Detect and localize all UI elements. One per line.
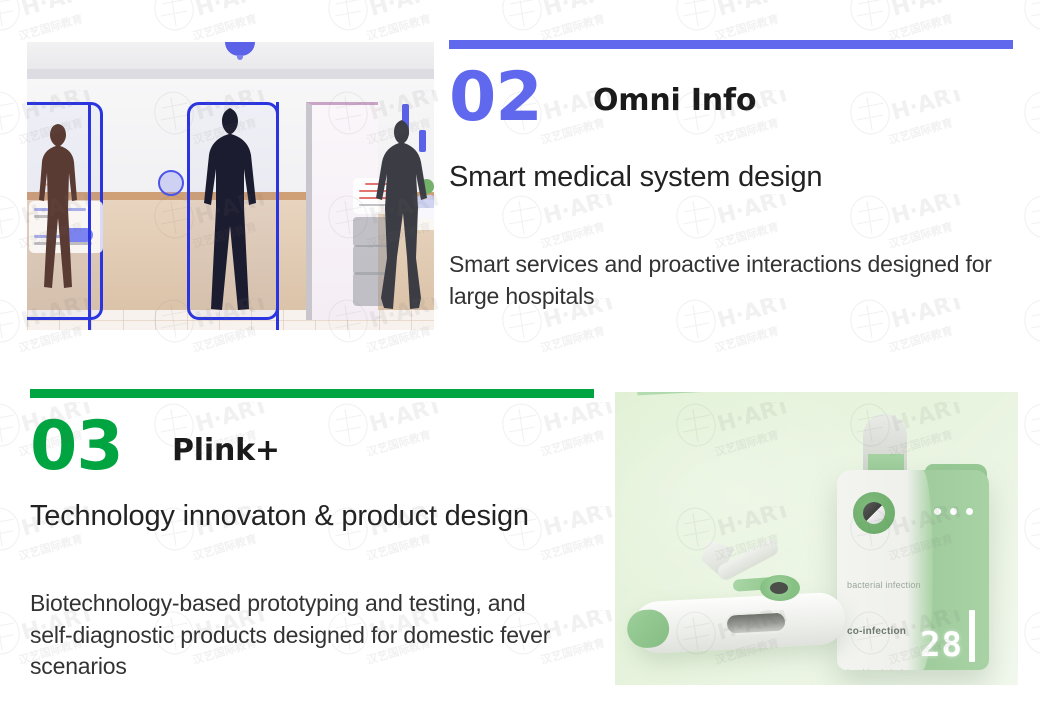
svg-text:H·ART: H·ART	[541, 402, 620, 438]
svg-text:汉艺国际教育: 汉艺国际教育	[365, 531, 432, 563]
device-sample-port-inner	[863, 502, 885, 524]
svg-text:H·ART: H·ART	[715, 194, 794, 230]
section-02-description: Smart services and proactive interaction…	[449, 249, 1019, 312]
watermark-hart: H·ART汉艺国际教育	[1020, 90, 1040, 160]
device-flat-port-inner	[770, 582, 788, 594]
person-silhouette-right	[374, 118, 428, 314]
svg-text:H·ART: H·ART	[715, 0, 794, 22]
person-silhouette-left	[35, 122, 83, 314]
svg-text:汉艺国际教育: 汉艺国际教育	[887, 323, 954, 355]
watermark-hart: H·ART汉艺国际教育	[1020, 194, 1040, 264]
product-scene: bacterial infection co-infection healthy…	[615, 392, 1018, 685]
svg-text:H·ART: H·ART	[367, 0, 446, 22]
device-indicator-dots	[934, 508, 973, 515]
slide-root: 02 Omni Info Smart medical system design…	[0, 0, 1040, 707]
svg-text:汉艺国际教育: 汉艺国际教育	[539, 531, 606, 563]
hospital-scene	[27, 42, 434, 330]
device-flat-body	[632, 591, 846, 654]
svg-text:H·ART: H·ART	[889, 194, 968, 230]
svg-text:汉艺国际教育: 汉艺国际教育	[191, 11, 258, 43]
svg-text:汉艺国际教育: 汉艺国际教育	[539, 323, 606, 355]
device-label-healthy-viral: healthy / viral infection	[847, 668, 933, 670]
svg-text:H·ART: H·ART	[193, 0, 272, 22]
watermark-hart: H·ART汉艺国际教育	[1020, 298, 1040, 368]
svg-text:H·ART: H·ART	[889, 0, 968, 22]
device-flat-cap	[626, 609, 670, 649]
svg-text:H·ART: H·ART	[889, 90, 968, 126]
person-silhouette-center	[202, 106, 264, 314]
indicator-dot	[950, 508, 957, 515]
screen-edge-guide	[88, 102, 91, 330]
watermark-hart: H·ART汉艺国际教育	[1020, 610, 1040, 680]
svg-text:汉艺国际教育: 汉艺国际教育	[365, 427, 432, 459]
section-02-accent-bar	[449, 40, 1013, 49]
device-display-value: 28	[920, 628, 963, 662]
device-upright-body: bacterial infection co-infection healthy…	[837, 470, 989, 670]
watermark-hart: H·ART汉艺国际教育	[1020, 506, 1040, 576]
plink-device-render-image: bacterial infection co-infection healthy…	[615, 392, 1018, 685]
svg-text:汉艺国际教育: 汉艺国际教育	[17, 531, 84, 563]
svg-text:汉艺国际教育: 汉艺国际教育	[713, 115, 780, 147]
svg-text:汉艺国际教育: 汉艺国际教育	[713, 219, 780, 251]
watermark-hart: H·ART汉艺国际教育	[1020, 0, 1040, 56]
section-03-accent-bar	[30, 389, 594, 398]
screen-edge-guide	[276, 102, 279, 330]
ceiling-band	[27, 69, 434, 79]
section-02-project-name: Omni Info	[593, 83, 756, 118]
svg-text:汉艺国际教育: 汉艺国际教育	[539, 427, 606, 459]
watermark-hart: H·ART汉艺国际教育	[498, 402, 628, 472]
device-display: 28	[920, 610, 975, 662]
section-02-number: 02	[449, 64, 542, 132]
svg-text:汉艺国际教育: 汉艺国际教育	[887, 11, 954, 43]
device-flat-port	[760, 575, 800, 601]
section-03-number: 03	[30, 413, 123, 481]
svg-text:H·ART: H·ART	[19, 0, 98, 22]
device-cartridge-slot	[724, 611, 787, 636]
svg-text:汉艺国际教育: 汉艺国际教育	[539, 219, 606, 251]
watermark-hart: H·ART汉艺国际教育	[1020, 402, 1040, 472]
section-03-description: Biotechnology-based prototyping and test…	[30, 588, 570, 683]
indicator-dot	[934, 508, 941, 515]
svg-text:H·ART: H·ART	[541, 194, 620, 230]
svg-text:汉艺国际教育: 汉艺国际教育	[887, 219, 954, 251]
svg-text:H·ART: H·ART	[367, 402, 446, 438]
svg-text:汉艺国际教育: 汉艺国际教育	[713, 11, 780, 43]
svg-text:汉艺国际教育: 汉艺国际教育	[713, 323, 780, 355]
svg-text:汉艺国际教育: 汉艺国际教育	[365, 11, 432, 43]
svg-text:汉艺国际教育: 汉艺国际教育	[887, 115, 954, 147]
svg-text:汉艺国际教育: 汉艺国际教育	[17, 11, 84, 43]
svg-text:H·ART: H·ART	[541, 0, 620, 22]
svg-text:汉艺国际教育: 汉艺国际教育	[539, 115, 606, 147]
screen-focus-ring-icon	[158, 170, 184, 196]
device-display-bar	[969, 610, 975, 662]
section-03-headline: Technology innovaton & product design	[30, 500, 555, 534]
svg-text:汉艺国际教育: 汉艺国际教育	[539, 11, 606, 43]
svg-text:汉艺国际教育: 汉艺国际教育	[191, 531, 258, 563]
device-label-bacterial: bacterial infection	[847, 580, 933, 592]
section-03-project-name: Plink+	[172, 433, 280, 468]
indicator-dot	[966, 508, 973, 515]
section-02-headline: Smart medical system design	[449, 161, 1009, 195]
watermark-hart: H·ART汉艺国际教育	[846, 90, 976, 160]
hospital-lobby-concept-image	[27, 42, 434, 330]
device-sample-port	[853, 492, 895, 534]
watermark-hart: H·ART汉艺国际教育	[324, 402, 454, 472]
